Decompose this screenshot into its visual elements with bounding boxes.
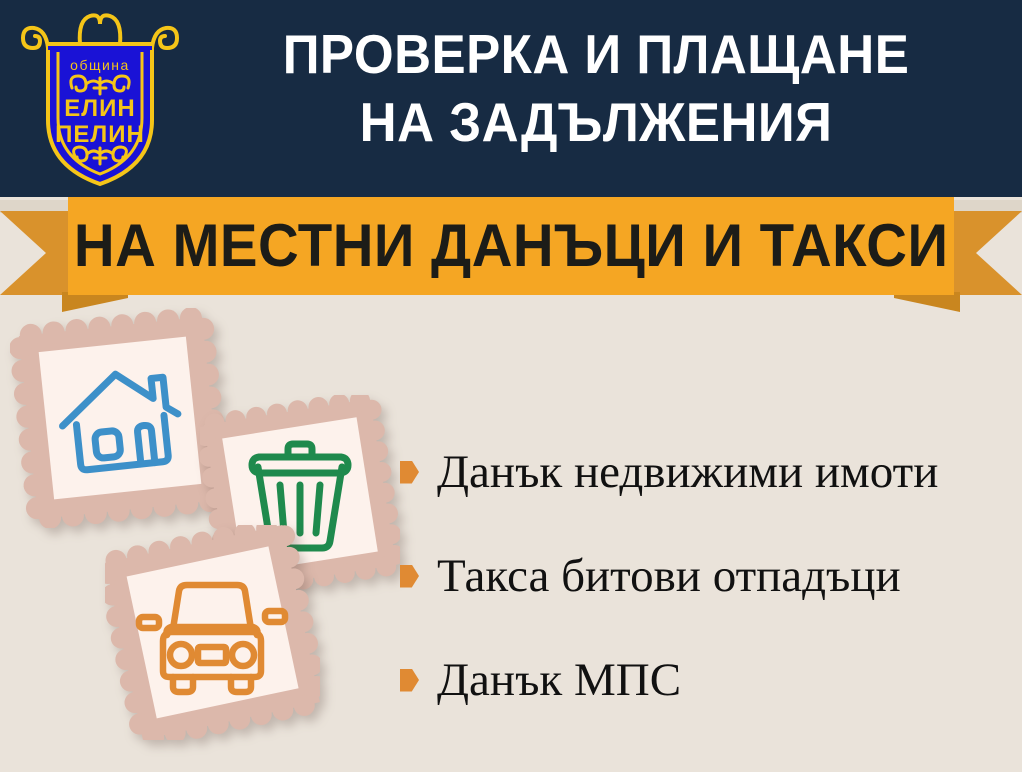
list-item[interactable]: Данък недвижими имоти — [400, 420, 1010, 524]
poster-canvas: община ЕЛИН ПЕЛИН ПРОВЕРКА И ПЛАЩАНЕ НА … — [0, 0, 1022, 772]
tax-type-list: Данък недвижими имоти Такса битови отпад… — [400, 420, 1010, 732]
ribbon-banner: НА МЕСТНИ ДАНЪЦИ И ТАКСИ — [0, 197, 1022, 307]
stamp-card-property — [10, 308, 230, 528]
stamp-card-group — [0, 290, 420, 760]
list-item[interactable]: Такса битови отпадъци — [400, 524, 1010, 628]
logo-label-name-2: ПЕЛИН — [55, 121, 145, 148]
ribbon-fold-right — [894, 292, 960, 312]
ribbon-text: НА МЕСТНИ ДАНЪЦИ И ТАКСИ — [74, 215, 949, 277]
list-item-label: Такса битови отпадъци — [437, 550, 901, 602]
stamp-card-vehicle — [105, 525, 320, 740]
poster-title: ПРОВЕРКА И ПЛАЩАНЕ НА ЗАДЪЛЖЕНИЯ — [186, 20, 1006, 156]
logo-label-name-1: ЕЛИН — [64, 95, 135, 122]
ribbon-panel: НА МЕСТНИ ДАНЪЦИ И ТАКСИ — [68, 197, 954, 295]
title-line-2: НА ЗАДЪЛЖЕНИЯ — [215, 88, 978, 156]
title-line-1: ПРОВЕРКА И ПЛАЩАНЕ — [215, 20, 978, 88]
arrow-bullet-icon — [400, 669, 419, 692]
list-item-label: Данък недвижими имоти — [437, 446, 938, 498]
arrow-bullet-icon — [400, 461, 419, 484]
municipality-coat-of-arms-logo: община ЕЛИН ПЕЛИН — [20, 8, 180, 188]
logo-label-top: община — [70, 57, 130, 73]
arrow-bullet-icon — [400, 565, 419, 588]
list-item[interactable]: Данък МПС — [400, 628, 1010, 732]
list-item-label: Данък МПС — [437, 654, 681, 706]
